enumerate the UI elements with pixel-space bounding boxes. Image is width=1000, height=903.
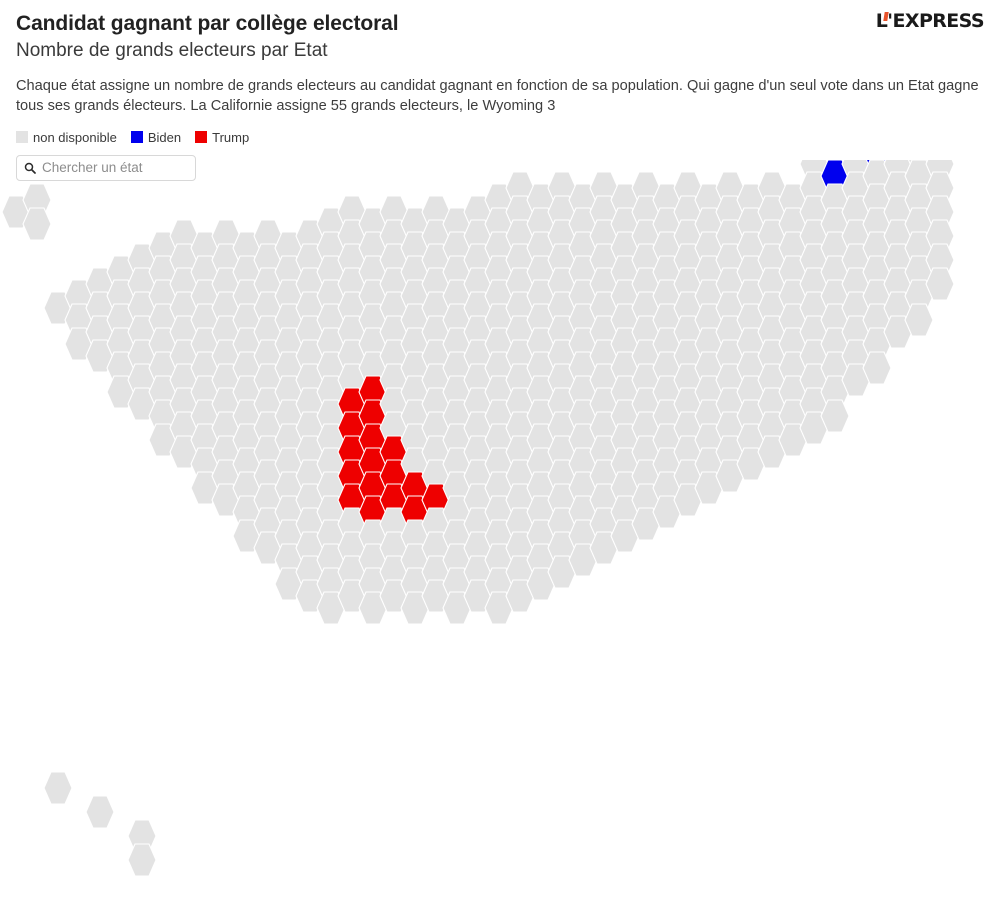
hex-cell[interactable] — [128, 844, 156, 876]
header: Candidat gagnant par collège electoral N… — [0, 0, 1000, 117]
legend-swatch-unavailable — [16, 131, 28, 143]
infographic-page: Candidat gagnant par collège electoral N… — [0, 0, 1000, 903]
legend-item-unavailable[interactable]: non disponible — [16, 131, 117, 144]
legend-item-biden[interactable]: Biden — [131, 131, 181, 144]
legend-label-trump: Trump — [212, 131, 249, 144]
brand-logo: L'EXPRESS — [876, 12, 984, 34]
legend-label-biden: Biden — [148, 131, 181, 144]
hexmap-svg[interactable] — [0, 160, 1000, 903]
brand-name: L'EXPRESS — [876, 12, 984, 31]
hex-cartogram-map[interactable] — [0, 160, 1000, 903]
legend-label-unavailable: non disponible — [33, 131, 117, 144]
legend-swatch-biden — [131, 131, 143, 143]
legend: non disponible Biden Trump — [0, 131, 1000, 144]
hex-cell[interactable] — [44, 772, 72, 804]
hex-cell[interactable] — [86, 796, 114, 828]
legend-swatch-trump — [195, 131, 207, 143]
legend-item-trump[interactable]: Trump — [195, 131, 249, 144]
page-title: Candidat gagnant par collège electoral — [16, 12, 984, 37]
page-description: Chaque état assigne un nombre de grands … — [16, 76, 984, 117]
page-subtitle: Nombre de grands electeurs par Etat — [16, 39, 984, 63]
